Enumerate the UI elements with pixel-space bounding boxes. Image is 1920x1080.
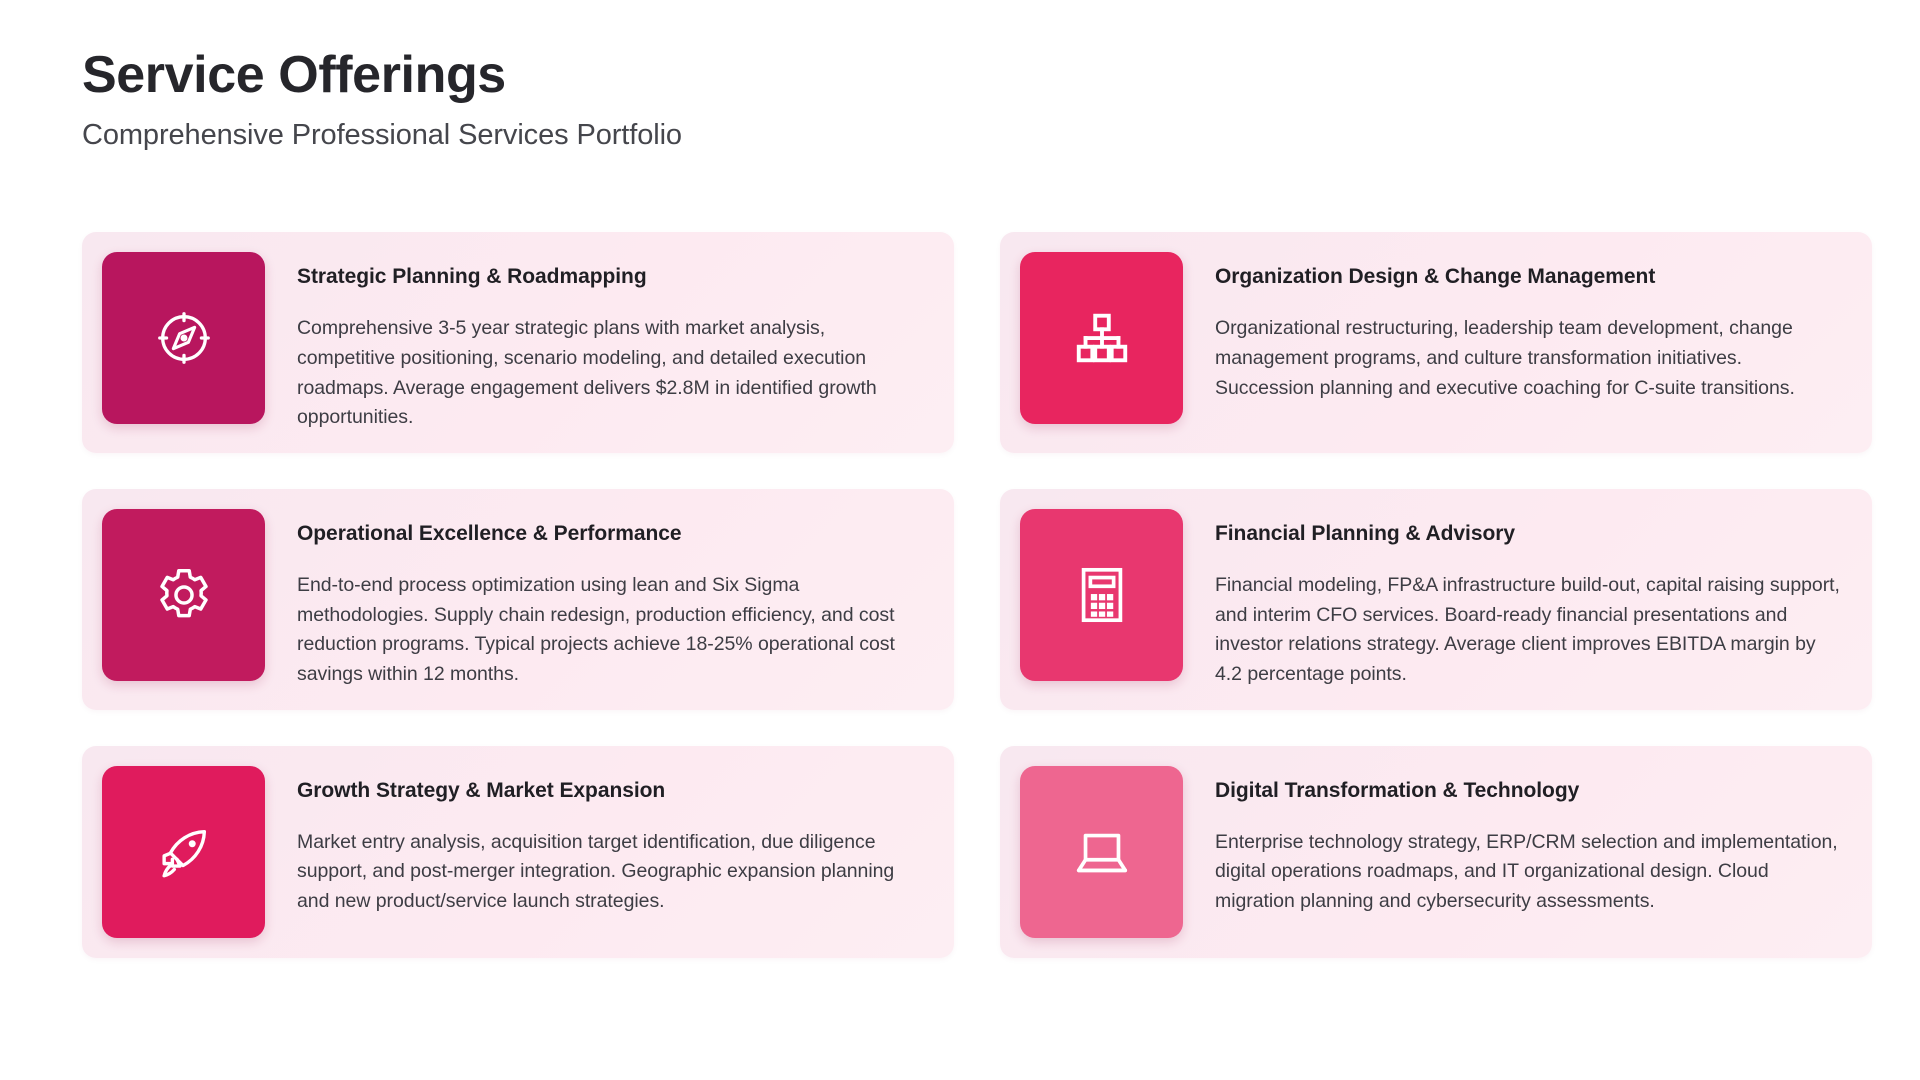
card-description: Comprehensive 3-5 year strategic plans w…: [297, 314, 928, 433]
card-title: Strategic Planning & Roadmapping: [297, 264, 928, 290]
compass-icon: [153, 307, 215, 369]
icon-tile: [102, 766, 265, 938]
calculator-icon: [1071, 564, 1133, 626]
card-body: Digital Transformation & Technology Ente…: [1183, 766, 1846, 917]
card-title: Digital Transformation & Technology: [1215, 778, 1846, 804]
icon-tile: [1020, 509, 1183, 681]
card-body: Financial Planning & Advisory Financial …: [1183, 509, 1846, 690]
card-description: Enterprise technology strategy, ERP/CRM …: [1215, 828, 1846, 917]
card-body: Organization Design & Change Management …: [1183, 252, 1846, 403]
org-chart-icon: [1071, 307, 1133, 369]
card-description: End-to-end process optimization using le…: [297, 571, 928, 690]
card-description: Market entry analysis, acquisition targe…: [297, 828, 928, 917]
slide-header: Service Offerings Comprehensive Professi…: [82, 46, 682, 153]
slide-root: Service Offerings Comprehensive Professi…: [0, 0, 1920, 1080]
card-description: Organizational restructuring, leadership…: [1215, 314, 1846, 403]
icon-tile: [102, 252, 265, 424]
card-title: Organization Design & Change Management: [1215, 264, 1846, 290]
card-title: Financial Planning & Advisory: [1215, 521, 1846, 547]
service-card[interactable]: Digital Transformation & Technology Ente…: [1000, 746, 1872, 958]
card-body: Strategic Planning & Roadmapping Compreh…: [265, 252, 928, 433]
service-card[interactable]: Operational Excellence & Performance End…: [82, 489, 954, 710]
card-body: Operational Excellence & Performance End…: [265, 509, 928, 690]
page-title: Service Offerings: [82, 46, 682, 104]
gear-icon: [153, 564, 215, 626]
service-card[interactable]: Growth Strategy & Market Expansion Marke…: [82, 746, 954, 958]
page-subtitle: Comprehensive Professional Services Port…: [82, 118, 682, 153]
rocket-icon: [153, 821, 215, 883]
service-card-grid: Strategic Planning & Roadmapping Compreh…: [82, 232, 1872, 958]
service-card[interactable]: Financial Planning & Advisory Financial …: [1000, 489, 1872, 710]
icon-tile: [1020, 766, 1183, 938]
service-card[interactable]: Strategic Planning & Roadmapping Compreh…: [82, 232, 954, 453]
card-title: Operational Excellence & Performance: [297, 521, 928, 547]
card-description: Financial modeling, FP&A infrastructure …: [1215, 571, 1846, 690]
service-card[interactable]: Organization Design & Change Management …: [1000, 232, 1872, 453]
laptop-icon: [1071, 821, 1133, 883]
icon-tile: [102, 509, 265, 681]
icon-tile: [1020, 252, 1183, 424]
card-title: Growth Strategy & Market Expansion: [297, 778, 928, 804]
card-body: Growth Strategy & Market Expansion Marke…: [265, 766, 928, 917]
